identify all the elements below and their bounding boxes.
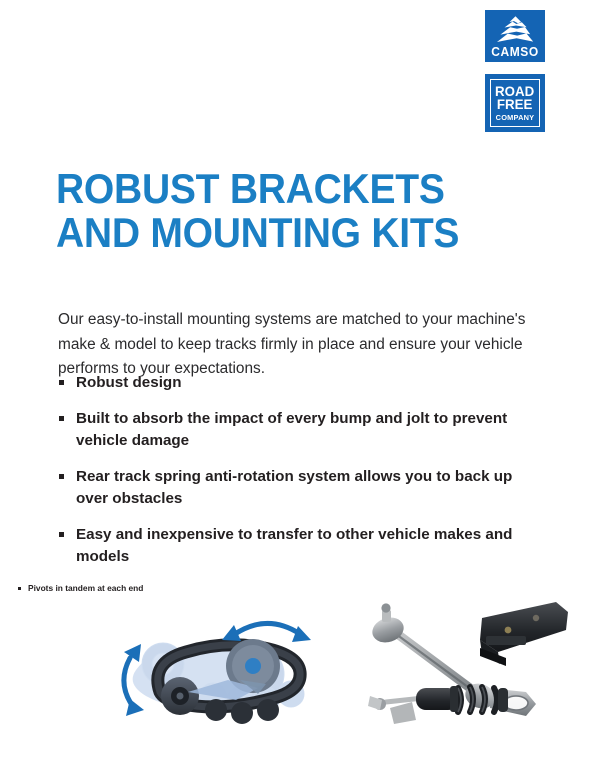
product-imagery [0, 596, 600, 746]
page-title-line-1: ROBUST BRACKETS [56, 167, 465, 211]
brand-logo-block: CAMSO ROAD FREE COMPANY [485, 10, 545, 132]
black-mounting-bracket-part [480, 602, 568, 666]
list-item-label: Easy and inexpensive to transfer to othe… [76, 526, 512, 565]
square-bullet-icon [59, 380, 64, 385]
intro-paragraph: Our easy-to-install mounting systems are… [58, 308, 528, 382]
list-item: Rear track spring anti-rotation system a… [58, 466, 528, 510]
square-bullet-icon [18, 587, 21, 590]
camso-logo-tile: CAMSO [485, 10, 545, 62]
page-title: ROBUST BRACKETS AND MOUNTING KITS [56, 167, 496, 255]
spring-shock-assembly-part [368, 686, 508, 724]
square-bullet-icon [59, 532, 64, 537]
list-item-label: Rear track spring anti-rotation system a… [76, 468, 512, 507]
list-item-label: Built to absorb the impact of every bump… [76, 410, 507, 449]
camso-chevron-tree-mark-icon [494, 15, 536, 45]
badge-line-company: COMPANY [496, 113, 535, 123]
road-free-company-badge-frame: ROAD FREE COMPANY [490, 79, 540, 127]
pivot-arrow-left-icon [124, 658, 134, 708]
pivot-arrow-top-icon [232, 623, 300, 636]
mounting-hardware-photo-icon [330, 596, 570, 736]
badge-line-free: FREE [497, 98, 532, 112]
square-bullet-icon [59, 474, 64, 479]
footnote: Pivots in tandem at each end [18, 583, 143, 594]
list-item: Robust design [58, 372, 528, 394]
square-bullet-icon [59, 416, 64, 421]
footnote-label: Pivots in tandem at each end [28, 583, 143, 593]
page-title-line-2: AND MOUNTING KITS [56, 211, 465, 255]
feature-bullet-list: Robust design Built to absorb the impact… [58, 372, 528, 582]
camso-wordmark: CAMSO [486, 46, 544, 59]
list-item: Built to absorb the impact of every bump… [58, 408, 528, 452]
list-item: Easy and inexpensive to transfer to othe… [58, 524, 528, 568]
rubber-track-system-diagram-icon [108, 596, 338, 741]
road-free-company-badge: ROAD FREE COMPANY [485, 74, 545, 132]
list-item-label: Robust design [76, 374, 181, 391]
